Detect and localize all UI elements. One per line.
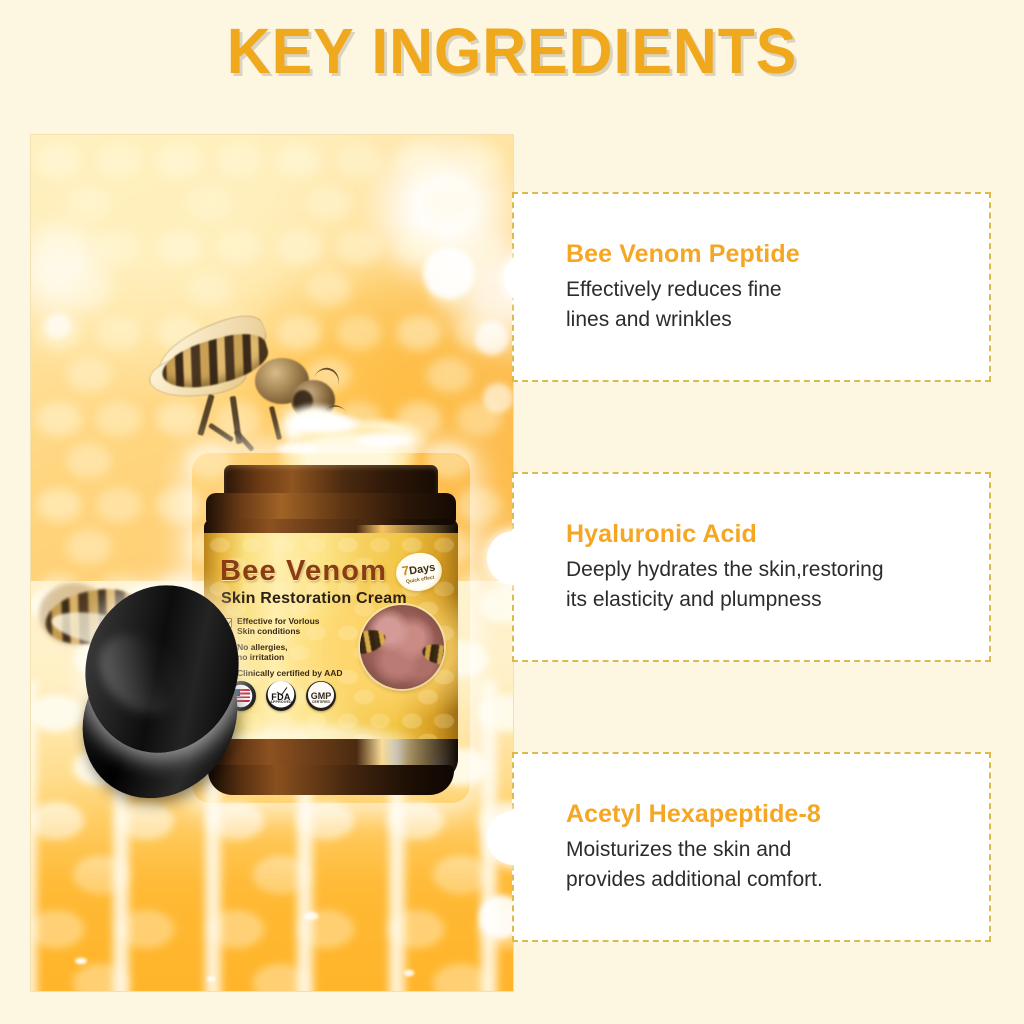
bokeh-highlight: [475, 321, 509, 355]
ingredient-card-acetyl-hexapeptide-8: Acetyl Hexapeptide-8 Moisturizes the ski…: [512, 752, 991, 942]
connector-dot-1: [504, 251, 558, 305]
gmp-sublabel: CERTIFIED: [306, 700, 336, 704]
ingredient-heading: Acetyl Hexapeptide-8: [566, 800, 989, 829]
ingredient-card-hyaluronic-acid: Hyaluronic Acid Deeply hydrates the skin…: [512, 472, 991, 662]
lid-specular-highlight: [85, 619, 195, 730]
connector-dot-3: [487, 811, 541, 865]
ingredient-card-bee-venom-peptide: Bee Venom Peptide Effectively reduces fi…: [512, 192, 991, 382]
card-content: Acetyl Hexapeptide-8 Moisturizes the ski…: [514, 754, 989, 895]
connector-dot-2: [487, 531, 541, 585]
fda-seal-icon: FDA APPROVED: [266, 681, 296, 711]
page-title: KEY INGREDIENTS: [26, 14, 999, 88]
venom-bee-graphic: [420, 641, 444, 668]
ingredient-heading: Bee Venom Peptide: [566, 240, 989, 269]
card-content: Hyaluronic Acid Deeply hydrates the skin…: [514, 474, 989, 615]
bokeh-highlight: [45, 313, 71, 339]
card-content: Bee Venom Peptide Effectively reduces fi…: [514, 194, 989, 335]
product-photo-panel: 7Days Quick effect Bee Venom Skin Restor…: [31, 135, 513, 991]
venom-cell-illustration: [360, 605, 444, 689]
bokeh-highlight: [423, 247, 475, 299]
ingredient-description: Moisturizes the skin and provides additi…: [566, 835, 989, 895]
gmp-seal-icon: GMP CERTIFIED: [306, 681, 336, 711]
ingredient-heading: Hyaluronic Acid: [566, 520, 989, 549]
fda-sublabel: APPROVED: [266, 700, 296, 704]
ingredient-description: Effectively reduces fine lines and wrink…: [566, 275, 989, 335]
bokeh-highlight: [483, 383, 513, 413]
ingredient-description: Deeply hydrates the skin,restoring its e…: [566, 555, 989, 615]
jar-lid: [72, 583, 257, 823]
